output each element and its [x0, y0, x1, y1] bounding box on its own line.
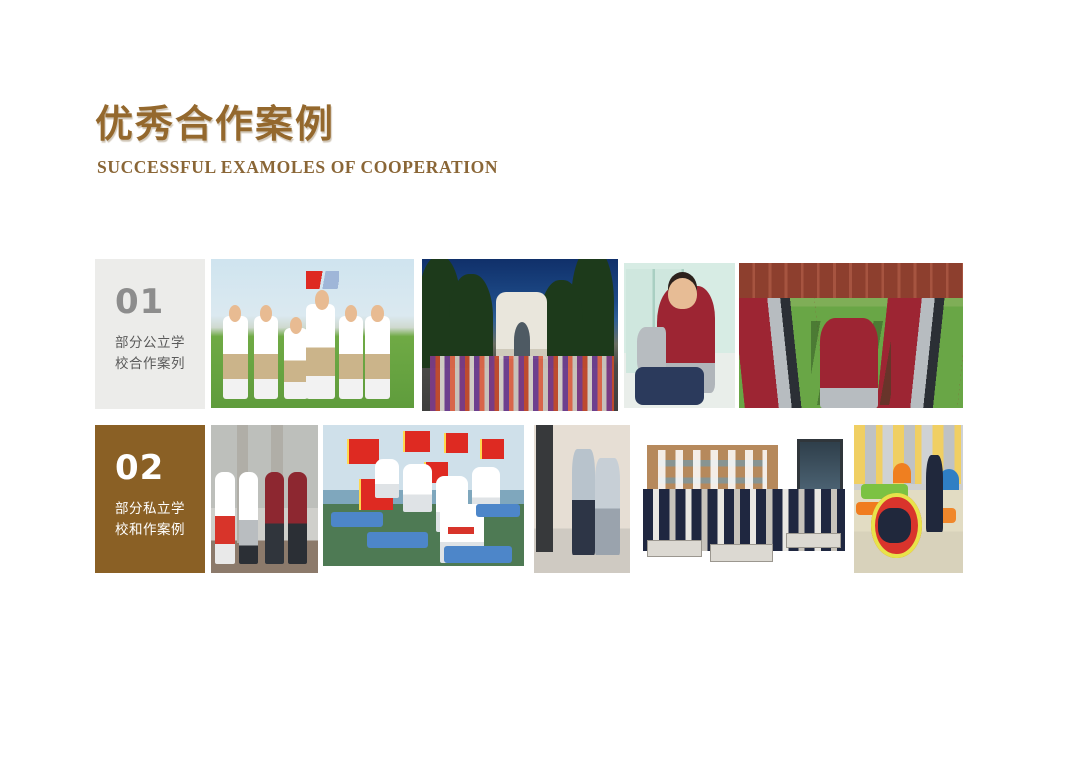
photo-two-children-reading[interactable] [534, 425, 630, 573]
section-number-02: 02 [115, 451, 189, 485]
section-caption-02: 部分私立学 校和作案例 [115, 499, 189, 541]
photo-pupils-in-corridor[interactable] [211, 425, 318, 573]
photo-soft-play-room-image [854, 425, 963, 573]
section-label-02[interactable]: 02 部分私立学 校和作案例 [95, 425, 205, 573]
photo-two-children-reading-image [534, 425, 630, 573]
slide-canvas: 优秀合作案例 SUCCESSFUL EXAMOLES OF COOPERATIO… [0, 0, 1080, 764]
photo-classroom-raising-hands-image [639, 425, 849, 565]
photo-classroom-flags[interactable] [323, 425, 524, 566]
photo-pupils-in-corridor-image [211, 425, 318, 573]
photo-soft-play-room[interactable] [854, 425, 963, 573]
photo-classroom-raising-hands[interactable] [639, 425, 849, 565]
photo-classroom-flags-image [323, 425, 524, 566]
gallery-row-2: 02 部分私立学 校和作案例 [0, 0, 1080, 764]
